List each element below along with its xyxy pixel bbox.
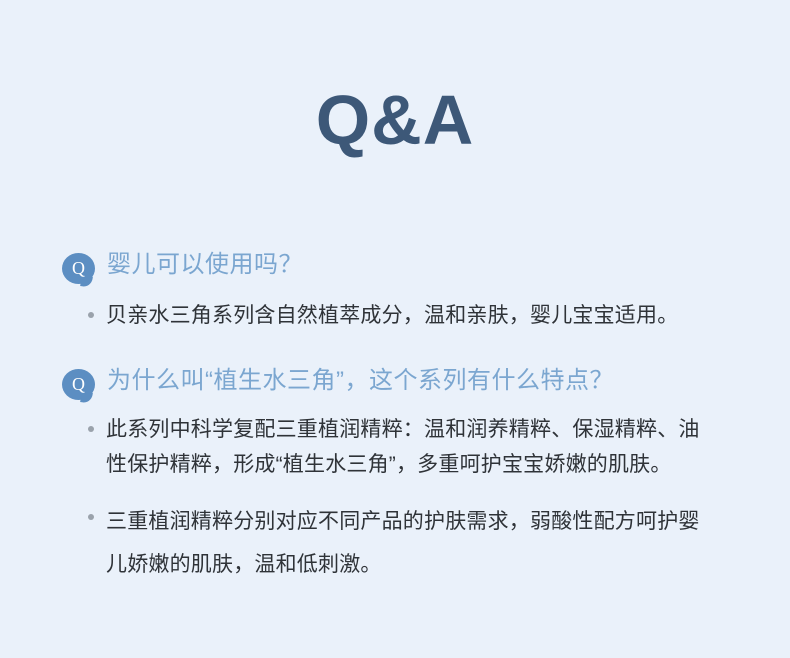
qa-block: Q 婴儿可以使用吗？ 贝亲水三角系列含自然植萃成分，温和亲肤，婴儿宝宝适用。	[0, 249, 790, 333]
question-badge-icon: Q	[62, 369, 95, 400]
qa-list: Q 婴儿可以使用吗？ 贝亲水三角系列含自然植萃成分，温和亲肤，婴儿宝宝适用。 Q…	[0, 249, 790, 586]
qa-block: Q 为什么叫“植生水三角”，这个系列有什么特点？ 此系列中科学复配三重植润精粹：…	[0, 365, 790, 586]
qa-page: Q&A Q 婴儿可以使用吗？ 贝亲水三角系列含自然植萃成分，温和亲肤，婴儿宝宝适…	[0, 0, 790, 658]
question-badge-icon: Q	[62, 253, 95, 284]
page-title: Q&A	[316, 81, 475, 159]
answer-text: 此系列中科学复配三重植润精粹：温和润养精粹、保湿精粹、油性保护精粹，形成“植生水…	[106, 412, 706, 482]
question-badge-letter: Q	[62, 253, 95, 284]
bullet-dot-icon	[88, 514, 94, 520]
question-row[interactable]: Q 婴儿可以使用吗？	[62, 249, 730, 284]
bullet-dot-icon	[88, 426, 94, 432]
bullet-dot-icon	[88, 312, 94, 318]
answer-item: 贝亲水三角系列含自然植萃成分，温和亲肤，婴儿宝宝适用。	[62, 298, 730, 333]
answer-list: 此系列中科学复配三重植润精粹：温和润养精粹、保湿精粹、油性保护精粹，形成“植生水…	[62, 412, 730, 586]
question-badge-letter: Q	[62, 369, 95, 400]
answer-text: 三重植润精粹分别对应不同产品的护肤需求，弱酸性配方呵护婴儿娇嫩的肌肤，温和低刺激…	[106, 500, 706, 586]
answer-item: 此系列中科学复配三重植润精粹：温和润养精粹、保湿精粹、油性保护精粹，形成“植生水…	[62, 412, 730, 482]
question-text: 婴儿可以使用吗？	[107, 249, 303, 281]
question-row[interactable]: Q 为什么叫“植生水三角”，这个系列有什么特点？	[62, 365, 730, 400]
page-title-container: Q&A	[0, 0, 790, 206]
answer-item: 三重植润精粹分别对应不同产品的护肤需求，弱酸性配方呵护婴儿娇嫩的肌肤，温和低刺激…	[62, 500, 730, 586]
answer-list: 贝亲水三角系列含自然植萃成分，温和亲肤，婴儿宝宝适用。	[62, 298, 730, 333]
question-text: 为什么叫“植生水三角”，这个系列有什么特点？	[107, 365, 614, 397]
answer-text: 贝亲水三角系列含自然植萃成分，温和亲肤，婴儿宝宝适用。	[106, 298, 678, 333]
